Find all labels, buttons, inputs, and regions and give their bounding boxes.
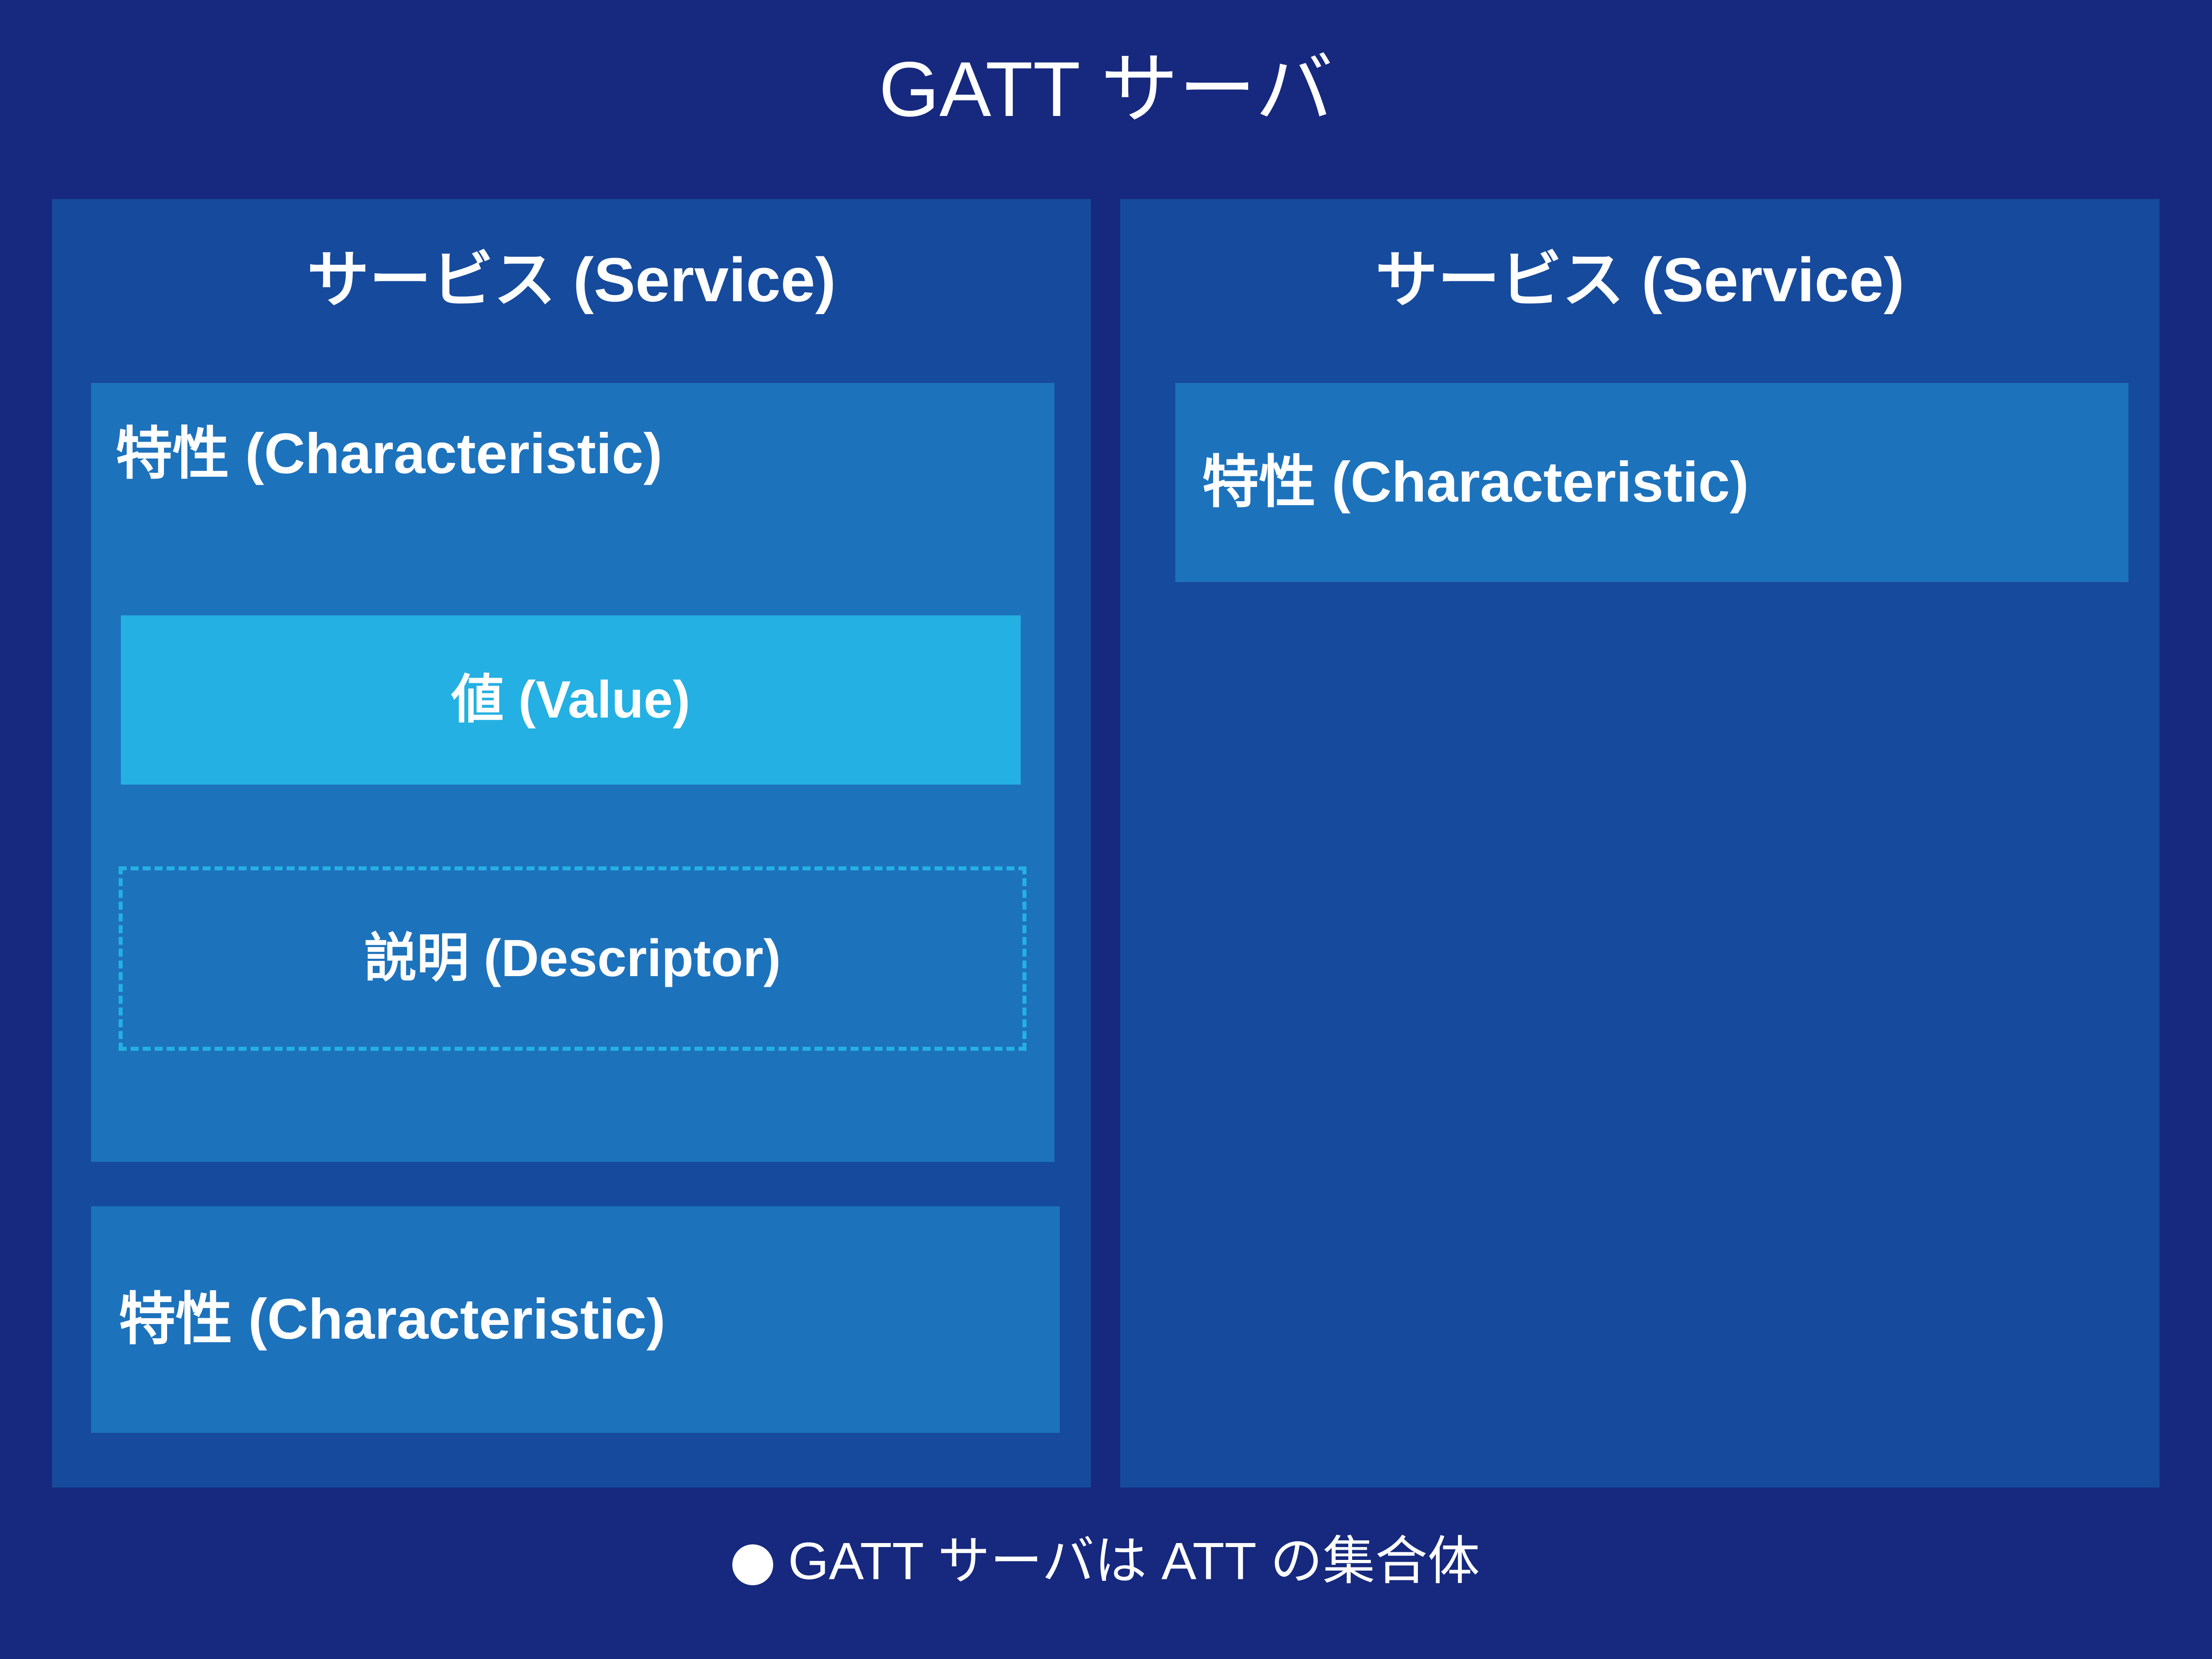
characteristic-label-2: 特性 (Characteristic) — [91, 1288, 666, 1351]
service-title-1: サービス (Service) — [52, 246, 1091, 314]
filled-circle-bullet-icon — [732, 1544, 773, 1585]
page-title: GATT サーバ — [0, 49, 2212, 131]
characteristic-box-2: 特性 (Characteristic) — [91, 1206, 1060, 1433]
characteristic-label-3: 特性 (Characteristic) — [1175, 451, 1749, 514]
characteristic-label-1: 特性 (Characteristic) — [116, 423, 663, 486]
service-box-1: サービス (Service) 特性 (Characteristic) 値 (Va… — [52, 199, 1091, 1488]
slide-canvas: GATT サーバ サービス (Service) 特性 (Characterist… — [0, 0, 2212, 1659]
service-title-2: サービス (Service) — [1120, 246, 2160, 314]
service-box-2: サービス (Service) 特性 (Characteristic) — [1120, 199, 2160, 1488]
footer-caption: GATT サーバは ATT の集合体 — [0, 1530, 2212, 1593]
footer-caption-text: GATT サーバは ATT の集合体 — [788, 1532, 1480, 1591]
descriptor-label: 説明 (Descriptor) — [364, 930, 781, 988]
value-label: 値 (Value) — [451, 671, 691, 729]
characteristic-box-3: 特性 (Characteristic) — [1175, 383, 2128, 582]
value-box: 値 (Value) — [121, 615, 1021, 785]
characteristic-box-1: 特性 (Characteristic) 値 (Value) 説明 (Descri… — [91, 383, 1054, 1162]
descriptor-box: 説明 (Descriptor) — [119, 866, 1026, 1051]
